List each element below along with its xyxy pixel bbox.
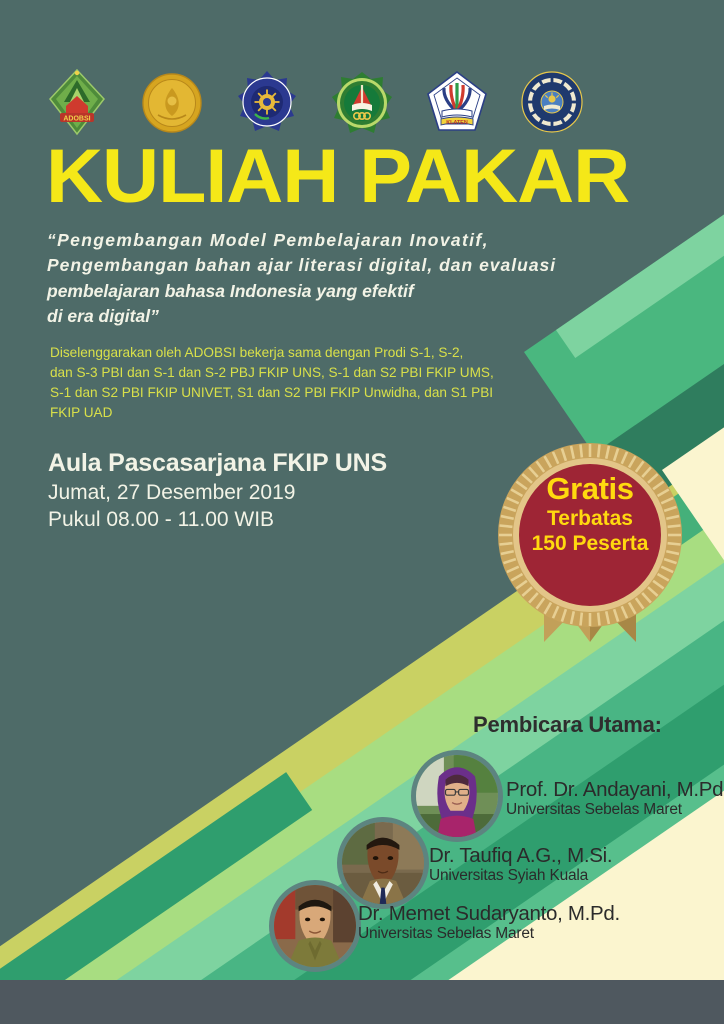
theme-quote: “Pengembangan Model Pembelajaran Inovati…: [47, 228, 637, 330]
gratis-badge: Gratis Terbatas 150 Peserta: [492, 437, 688, 657]
speaker-name: Prof. Dr. Andayani, M.Pd.: [506, 779, 724, 801]
event-venue: Aula Pascasarjana FKIP UNS: [48, 448, 387, 479]
speaker-info: Dr. Taufiq A.G., M.Si. Universitas Syiah…: [429, 845, 612, 884]
theme-quote-line-1: “Pengembangan Model Pembelajaran Inovati…: [47, 228, 637, 253]
speakers-heading: Pembicara Utama:: [473, 712, 662, 738]
speaker-photo-andayani: [411, 750, 503, 842]
organizer-line-4: FKIP UAD: [50, 403, 520, 423]
page-title: KULIAH PAKAR: [46, 141, 629, 213]
uad-logo: [521, 66, 583, 138]
speaker-affiliation: Universitas Sebelas Maret: [358, 925, 620, 943]
speaker-info: Dr. Memet Sudaryanto, M.Pd. Universitas …: [358, 903, 620, 942]
speaker-photo-memet: [269, 880, 361, 972]
organizer-line-2: dan S-3 PBI dan S-1 dan S-2 PBJ FKIP UNS…: [50, 363, 520, 383]
event-details: Aula Pascasarjana FKIP UNS Jumat, 27 Des…: [48, 448, 387, 534]
speaker-info: Prof. Dr. Andayani, M.Pd. Universitas Se…: [506, 779, 724, 818]
theme-quote-line-2: Pengembangan bahan ajar literasi digital…: [47, 253, 637, 278]
speaker-photo-taufiq: [337, 817, 429, 909]
top-bar: [0, 0, 724, 8]
svg-text:KLATEN: KLATEN: [446, 120, 468, 126]
speaker-affiliation: Universitas Syiah Kuala: [429, 867, 612, 885]
event-time: Pukul 08.00 - 11.00 WIB: [48, 506, 387, 534]
organizer-line-1: Diselenggarakan oleh ADOBSI bekerja sama…: [50, 343, 520, 363]
speaker-name: Dr. Memet Sudaryanto, M.Pd.: [358, 903, 620, 925]
bottom-bar: [0, 980, 724, 1024]
organizer-text: Diselenggarakan oleh ADOBSI bekerja sama…: [50, 343, 520, 423]
event-date: Jumat, 27 Desember 2019: [48, 479, 387, 507]
unwidha-logo: KLATEN: [426, 66, 488, 138]
adobsi-logo: ADOBSI: [46, 66, 108, 138]
organizer-line-3: S-1 dan S2 PBI FKIP UNIVET, S1 dan S2 PB…: [50, 383, 520, 403]
svg-text:ADOBSI: ADOBSI: [63, 116, 90, 123]
gold-medallion-logo: [141, 66, 203, 138]
theme-quote-line-4: di era digital”: [47, 304, 637, 329]
ums-logo: [236, 66, 298, 138]
uns-logo: [331, 66, 393, 138]
poster-canvas: ADOBSI: [0, 0, 724, 1024]
logo-row: ADOBSI: [46, 66, 583, 138]
theme-quote-line-3: pembelajaran bahasa Indonesia yang efekt…: [47, 279, 637, 304]
speaker-affiliation: Universitas Sebelas Maret: [506, 801, 724, 819]
speaker-name: Dr. Taufiq A.G., M.Si.: [429, 845, 612, 867]
